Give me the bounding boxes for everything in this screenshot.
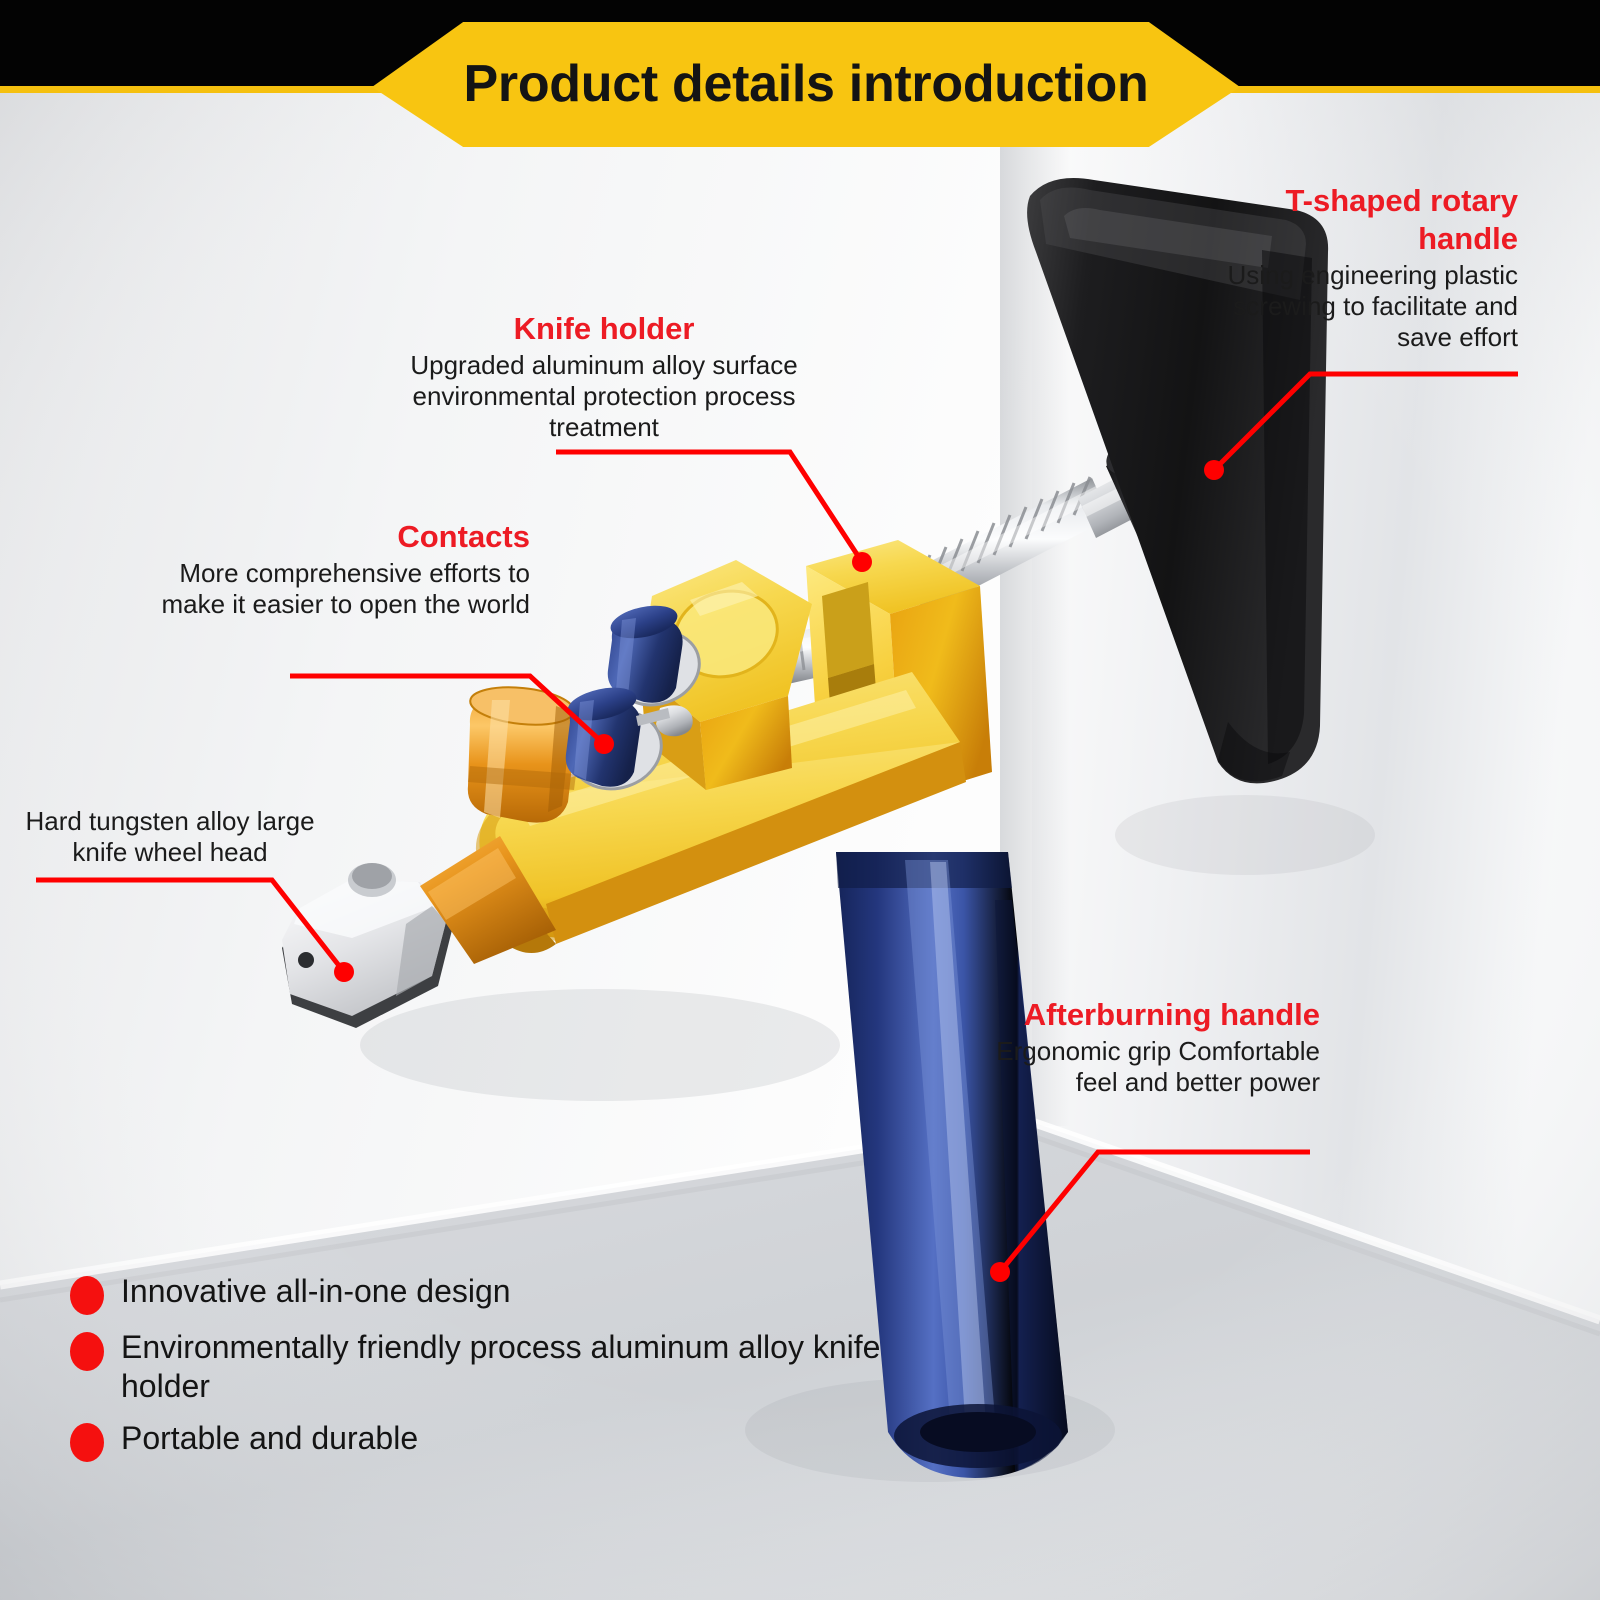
page-title: Product details introduction <box>464 54 1149 114</box>
leader-dot-tshaped <box>1204 460 1224 480</box>
infographic-page: Product details introduction <box>0 0 1600 1600</box>
leader-dot-contacts <box>594 734 614 754</box>
leader-tshaped <box>1214 374 1518 470</box>
callout-leader-lines <box>0 0 1600 1600</box>
leader-wheel-head <box>36 880 344 972</box>
header-banner: Product details introduction <box>372 22 1240 147</box>
leader-knife-holder <box>556 452 862 562</box>
leader-dot-wheel-head <box>334 962 354 982</box>
leader-contacts <box>290 676 604 744</box>
leader-afterburning <box>1000 1152 1310 1272</box>
leader-dot-knife-holder <box>852 552 872 572</box>
leader-dot-afterburning <box>990 1262 1010 1282</box>
